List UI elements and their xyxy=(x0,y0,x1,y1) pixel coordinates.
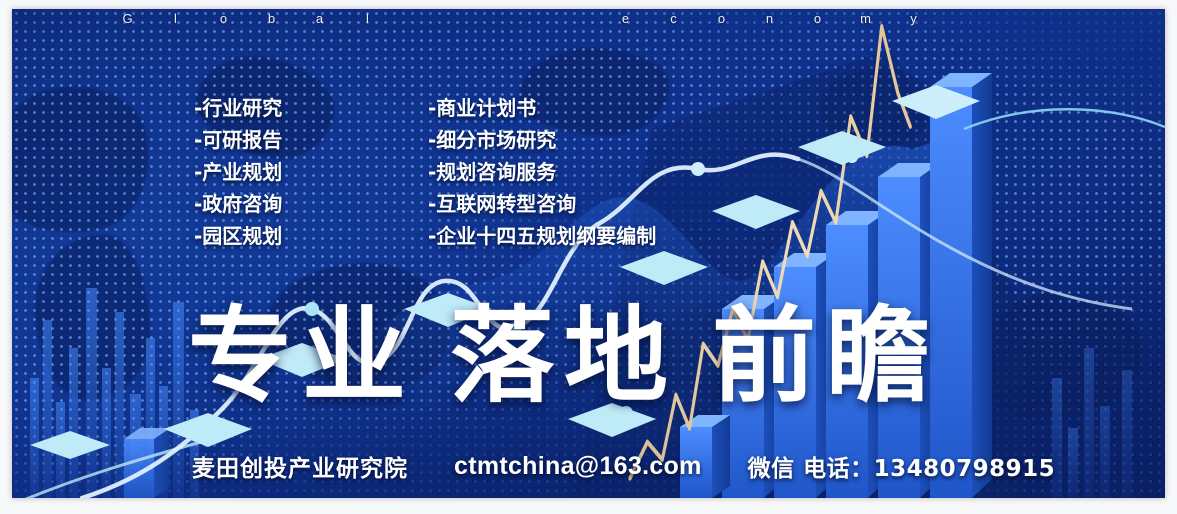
arc-curve-right xyxy=(964,109,1165,129)
email-address: ctmtchina@163.com xyxy=(454,452,702,481)
header-word-global: Global xyxy=(104,11,392,26)
header-letter: G xyxy=(104,11,152,26)
header-word-economy: economy xyxy=(602,11,938,26)
headline-word-3: 前瞻 xyxy=(712,295,940,417)
economy-chart-graphic xyxy=(12,9,1165,498)
diamond-marker xyxy=(30,431,110,459)
banner-frame: Global economy -行业研究 -可研报告 -产业规划 -政府咨询 -… xyxy=(0,0,1177,514)
headline-word-1: 专业 xyxy=(188,295,416,417)
header-letter: o xyxy=(200,11,248,26)
service-item: -园区规划 xyxy=(194,220,282,252)
header-letter: c xyxy=(650,11,698,26)
service-item: -政府咨询 xyxy=(194,188,282,220)
header-letter: m xyxy=(842,11,890,26)
headline: 专业落地前瞻 xyxy=(188,304,940,408)
footer-contact-bar: 麦田创投产业研究院 ctmtchina@163.com 微信 电话：134807… xyxy=(192,449,1055,483)
service-item: -细分市场研究 xyxy=(428,124,656,156)
curve-node xyxy=(691,162,705,176)
phone-contact: 微信 电话：13480798915 xyxy=(748,449,1056,483)
header-letter: b xyxy=(248,11,296,26)
service-item: -规划咨询服务 xyxy=(428,156,656,188)
headline-word-2: 落地 xyxy=(450,295,678,417)
service-item: -商业计划书 xyxy=(428,92,656,124)
header-letter: a xyxy=(296,11,344,26)
service-list-right: -商业计划书 -细分市场研究 -规划咨询服务 -互联网转型咨询 -企业十四五规划… xyxy=(428,92,656,252)
header-letter: n xyxy=(746,11,794,26)
service-item: -行业研究 xyxy=(194,92,282,124)
service-item: -产业规划 xyxy=(194,156,282,188)
banner-stage: Global economy -行业研究 -可研报告 -产业规划 -政府咨询 -… xyxy=(12,9,1165,498)
header-letter: e xyxy=(602,11,650,26)
header-letter: l xyxy=(344,11,392,26)
service-item: -互联网转型咨询 xyxy=(428,188,656,220)
header-letter: o xyxy=(794,11,842,26)
service-item: -企业十四五规划纲要编制 xyxy=(428,220,656,252)
bar-column xyxy=(930,73,992,498)
header-letter: o xyxy=(698,11,746,26)
header-letter: y xyxy=(890,11,938,26)
service-item: -可研报告 xyxy=(194,124,282,156)
header-letter: l xyxy=(152,11,200,26)
organization-name: 麦田创投产业研究院 xyxy=(192,449,408,483)
service-list-left: -行业研究 -可研报告 -产业规划 -政府咨询 -园区规划 xyxy=(194,92,282,252)
